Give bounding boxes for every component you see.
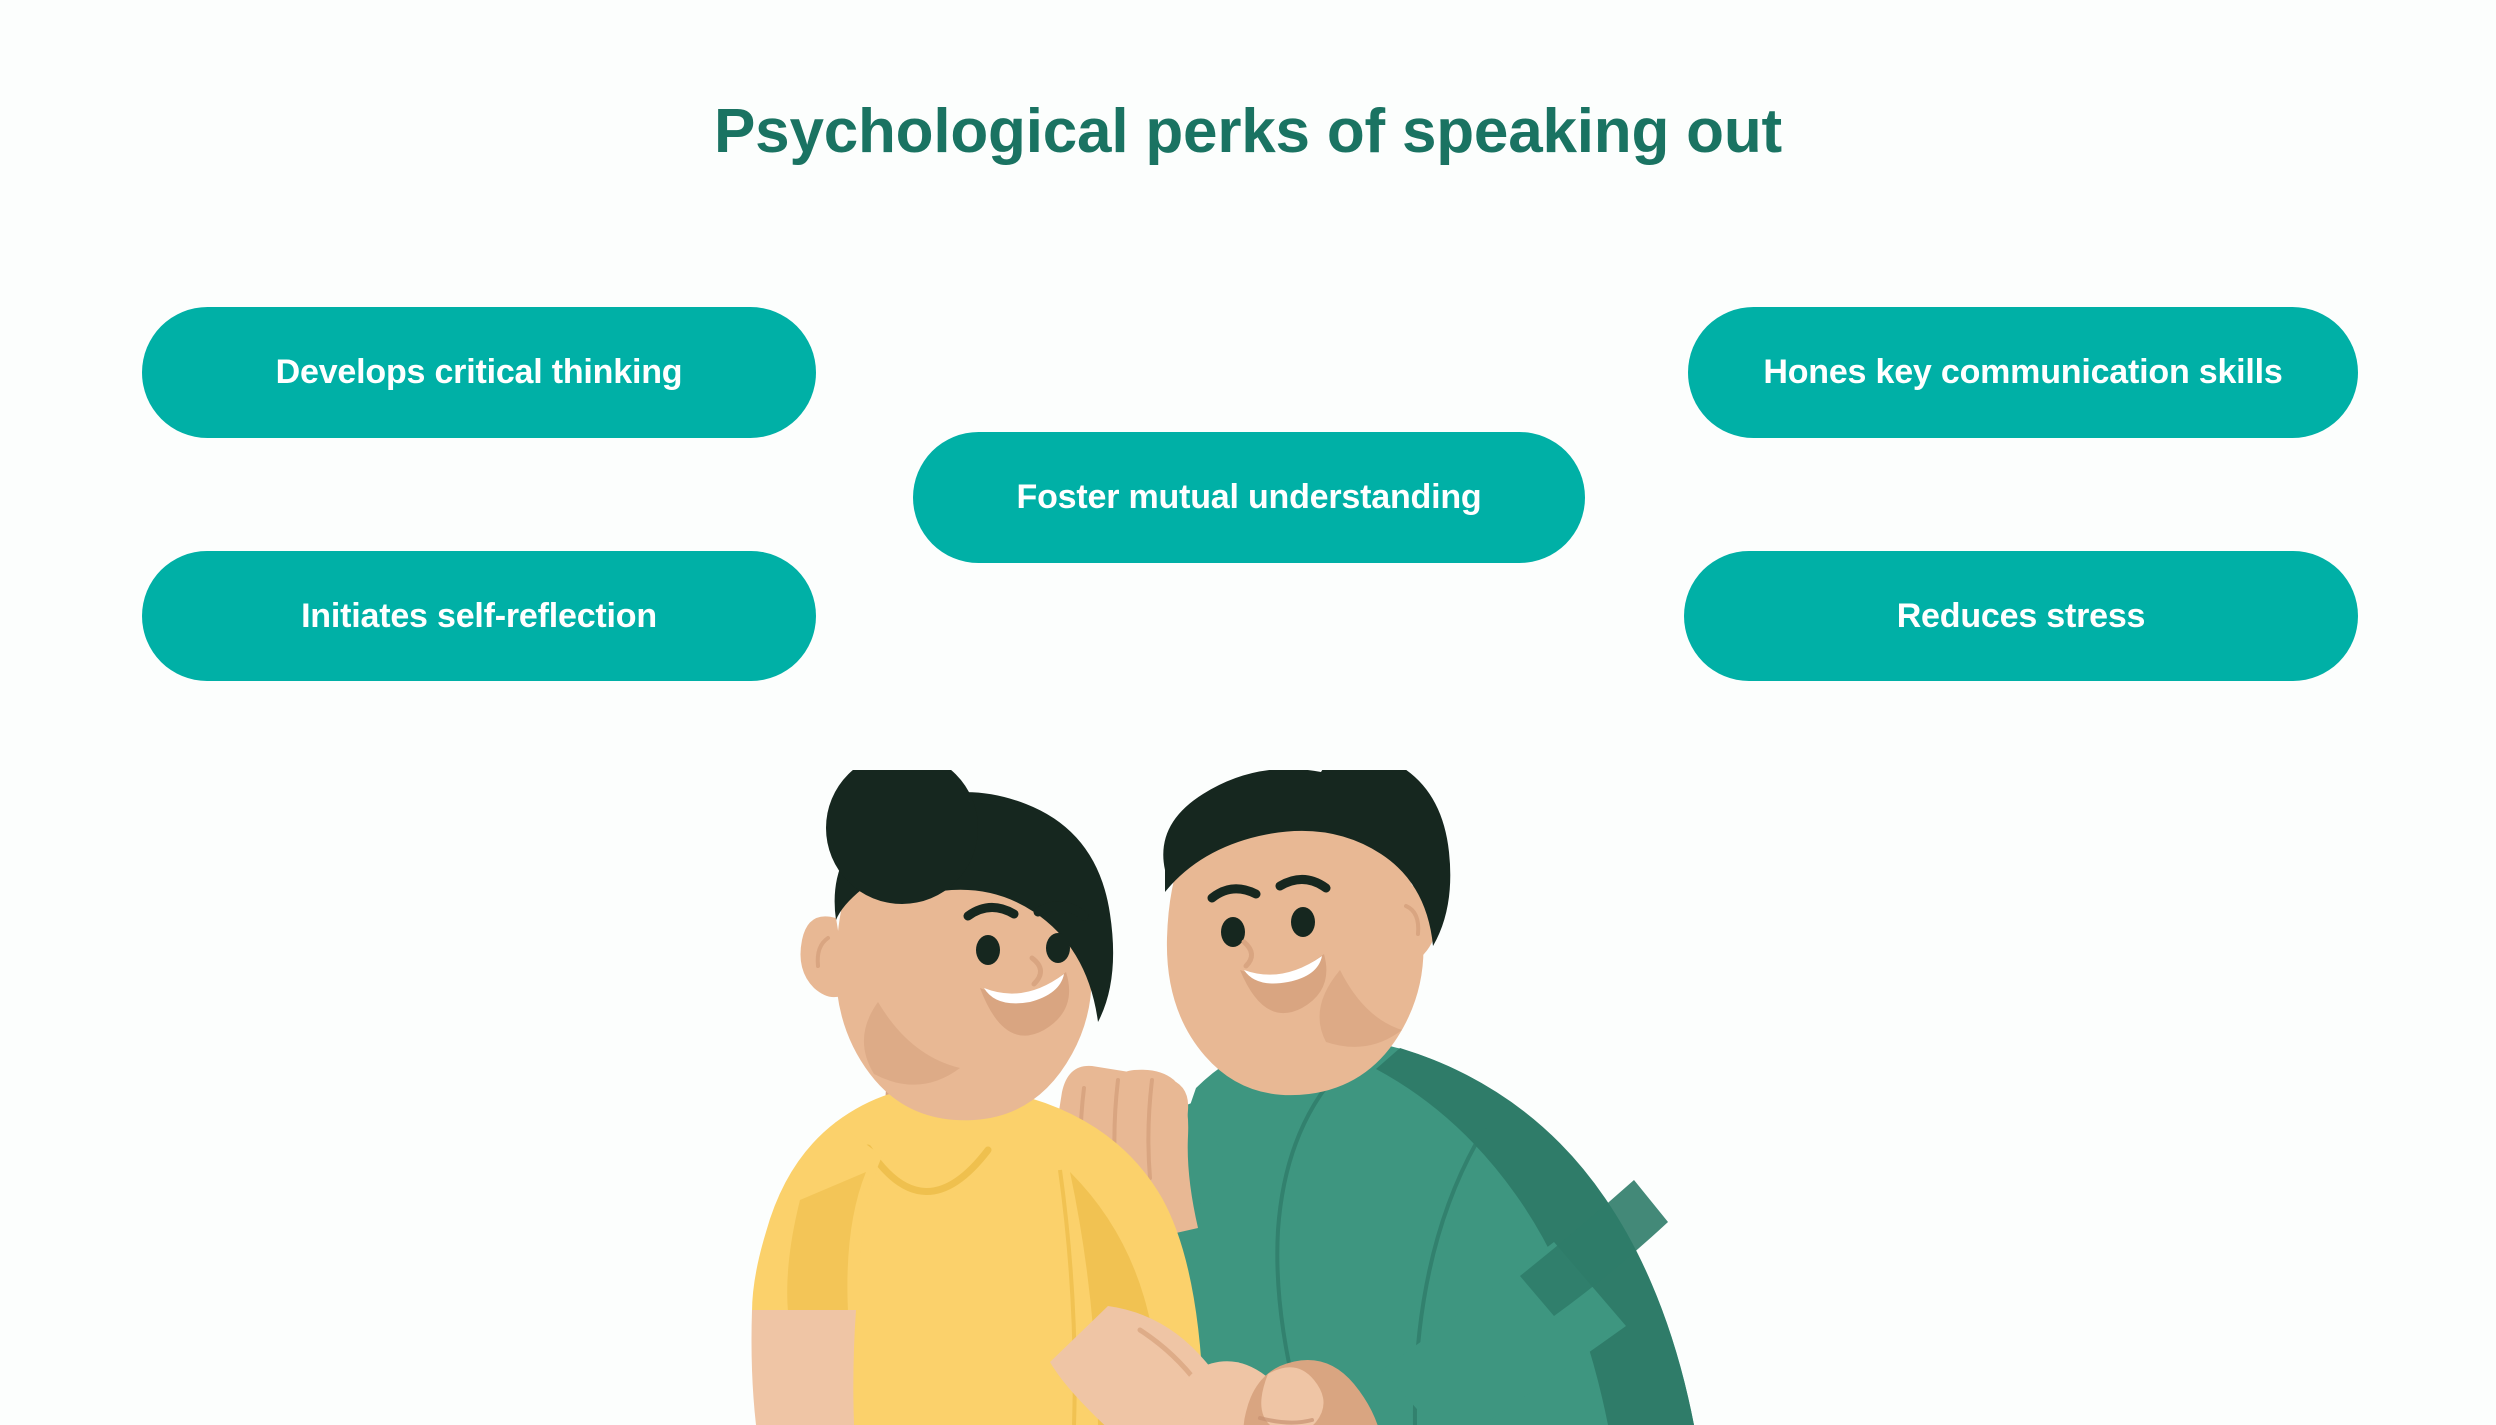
man-eye-left: [1221, 917, 1245, 947]
man-eye-right: [1291, 907, 1315, 937]
pill-label: Hones key communication skills: [1763, 353, 2282, 392]
pill-hones-key-communication-skills[interactable]: Hones key communication skills: [1688, 307, 2358, 438]
pill-develops-critical-thinking[interactable]: Develops critical thinking: [142, 307, 816, 438]
woman-eye-left: [976, 935, 1000, 965]
pill-reduces-stress[interactable]: Reduces stress: [1684, 551, 2358, 681]
pill-label: Develops critical thinking: [276, 353, 683, 392]
pill-initiates-self-reflection[interactable]: Initiates self-reflection: [142, 551, 816, 681]
pill-label: Initiates self-reflection: [301, 597, 657, 636]
pill-foster-mutual-understanding[interactable]: Foster mutual understanding: [913, 432, 1585, 563]
woman-eye-right: [1046, 933, 1070, 963]
pill-label: Reduces stress: [1897, 597, 2146, 636]
pill-label: Foster mutual understanding: [1017, 478, 1482, 517]
two-people-handshake-illustration: [640, 770, 1880, 1425]
page-title: Psychological perks of speaking out: [0, 98, 2496, 166]
